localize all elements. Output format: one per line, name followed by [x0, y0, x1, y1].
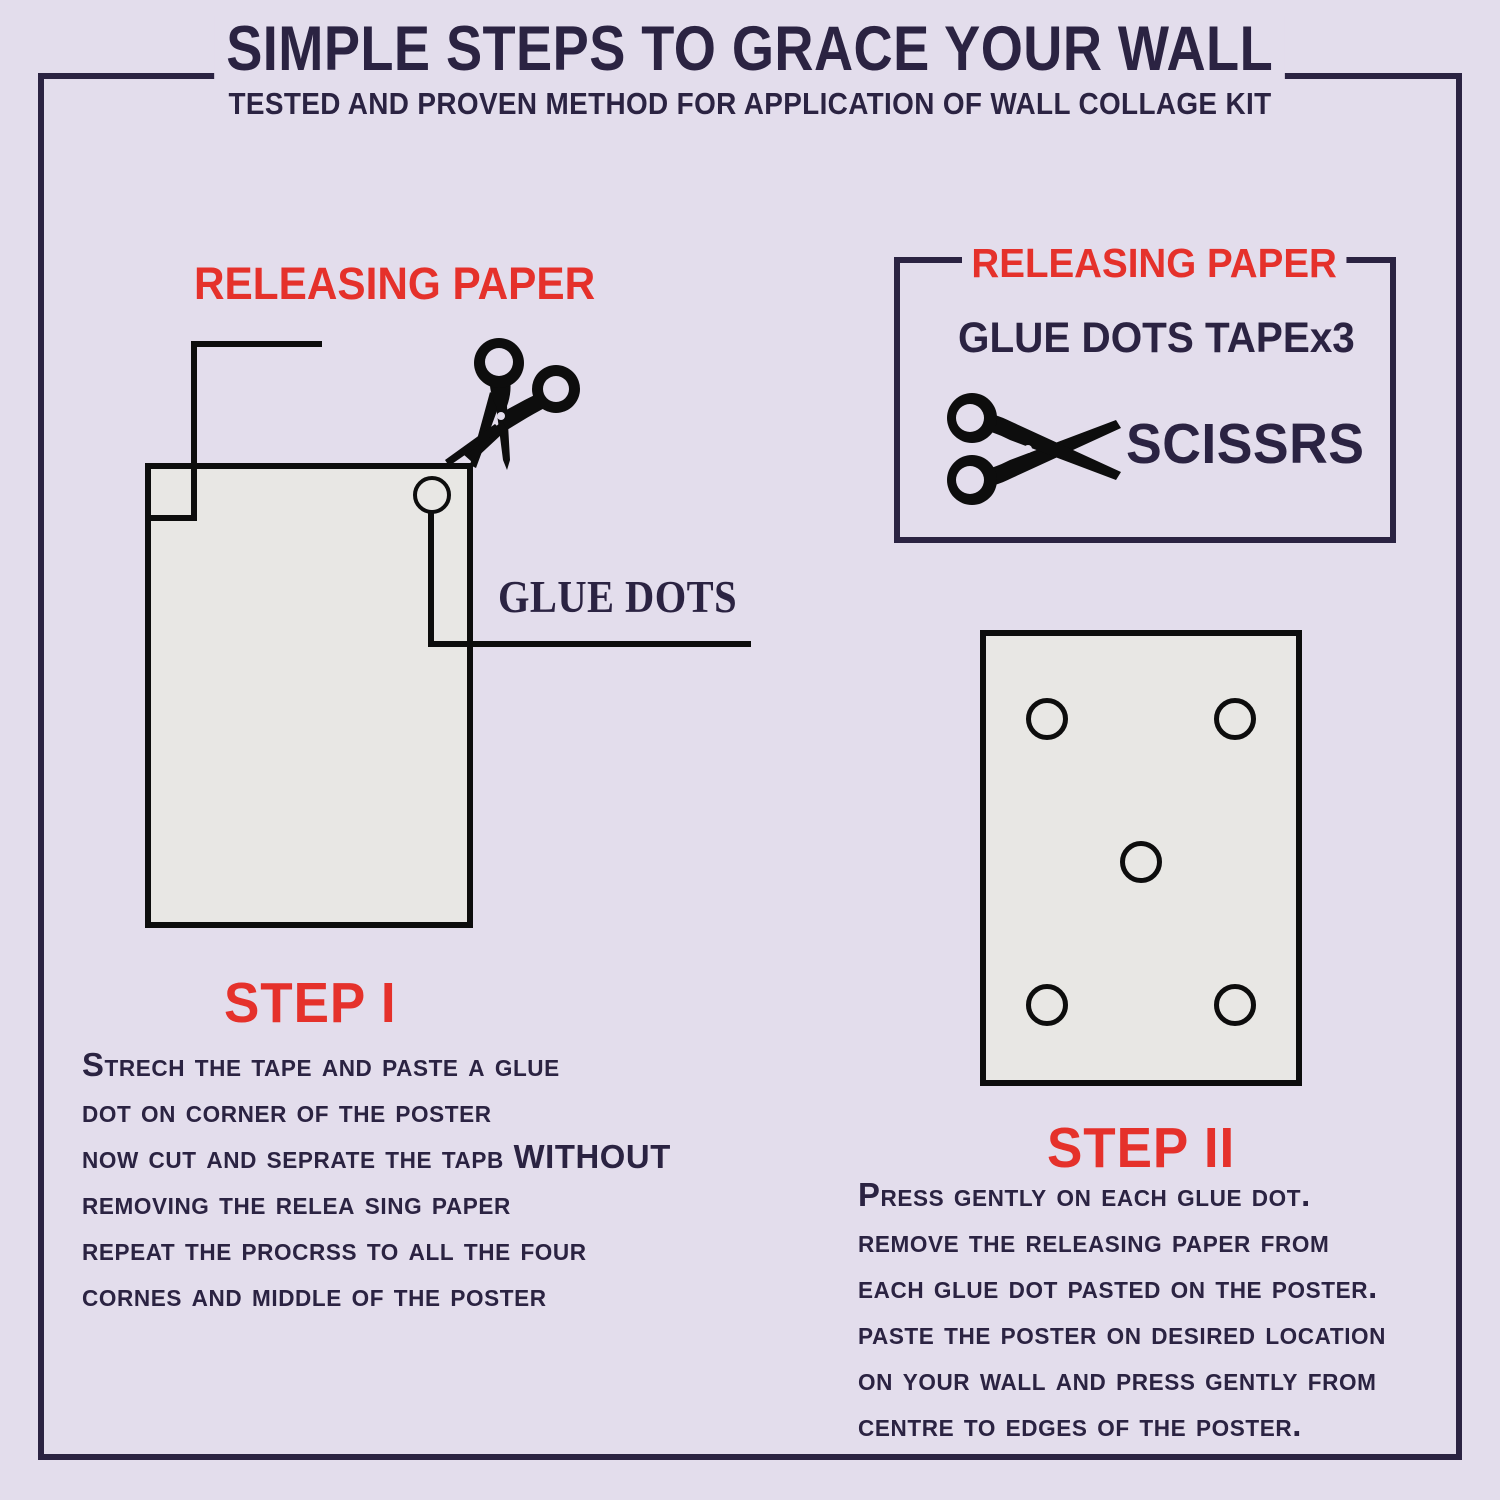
kit-tape-label: GLUE DOTS TAPEx3 [958, 314, 1355, 363]
step-two-line: Press gently on each glue dot. [858, 1173, 1386, 1219]
step-two-line: remove the releasing paper from [858, 1219, 1386, 1265]
leader-line-glue-dots-vertical [428, 512, 434, 647]
page-subtitle: TESTED AND PROVEN METHOD FOR APPLICATION… [75, 86, 1425, 122]
step-one-line: now cut and seprate the tapb WITHOUT [82, 1135, 671, 1181]
glue-dot-bottom-right [1214, 984, 1256, 1026]
step-one-body: Strech the tape and paste a glue dot on … [82, 1043, 683, 1319]
glue-dot-top-right [1214, 698, 1256, 740]
kit-box-title: RELEASING PAPER [962, 240, 1346, 287]
left-glue-dots-label: GLUE DOTS [498, 570, 737, 623]
step-two-line: paste the poster on desired location [858, 1311, 1386, 1357]
leader-line-releasing-paper-vertical [191, 341, 197, 469]
step-one-line: repeat the procrss to all the four [82, 1227, 671, 1273]
step-two-heading: STEP II [1047, 1115, 1235, 1181]
step-one-heading: STEP I [224, 970, 397, 1036]
left-poster-corner-tape [145, 463, 197, 521]
step-two-line: each glue dot pasted on the poster. [858, 1265, 1386, 1311]
scissors-icon [940, 392, 1126, 506]
step-one-line: removing the relea sing paper [82, 1181, 671, 1227]
page-title: SIMPLE STEPS TO GRACE YOUR WALL [215, 16, 1286, 82]
step-one-line: dot on corner of the poster [82, 1089, 671, 1135]
glue-dot-top-left [1026, 698, 1068, 740]
infographic-canvas: SIMPLE STEPS TO GRACE YOUR WALL TESTED A… [0, 0, 1500, 1500]
leader-line-releasing-paper-horizontal [191, 341, 322, 347]
scissors-icon [443, 332, 583, 474]
leader-line-glue-dots-horizontal [428, 641, 751, 647]
glue-dot-bottom-left [1026, 984, 1068, 1026]
right-poster-sheet [980, 630, 1302, 1086]
header: SIMPLE STEPS TO GRACE YOUR WALL TESTED A… [0, 16, 1500, 122]
step-two-line: centre to edges of the poster. [858, 1403, 1386, 1449]
step-one-line: cornes and middle of the poster [82, 1273, 671, 1319]
step-two-line: on your wall and press gently from [858, 1357, 1386, 1403]
step-one-line: Strech the tape and paste a glue [82, 1043, 671, 1089]
glue-dot-center [1120, 841, 1162, 883]
left-poster-sheet [145, 463, 473, 928]
left-glue-dot [413, 476, 451, 514]
kit-scissors-label: SCISSRS [1126, 411, 1365, 477]
step-two-body: Press gently on each glue dot. remove th… [858, 1173, 1397, 1449]
left-releasing-paper-label: RELEASING PAPER [194, 258, 595, 310]
